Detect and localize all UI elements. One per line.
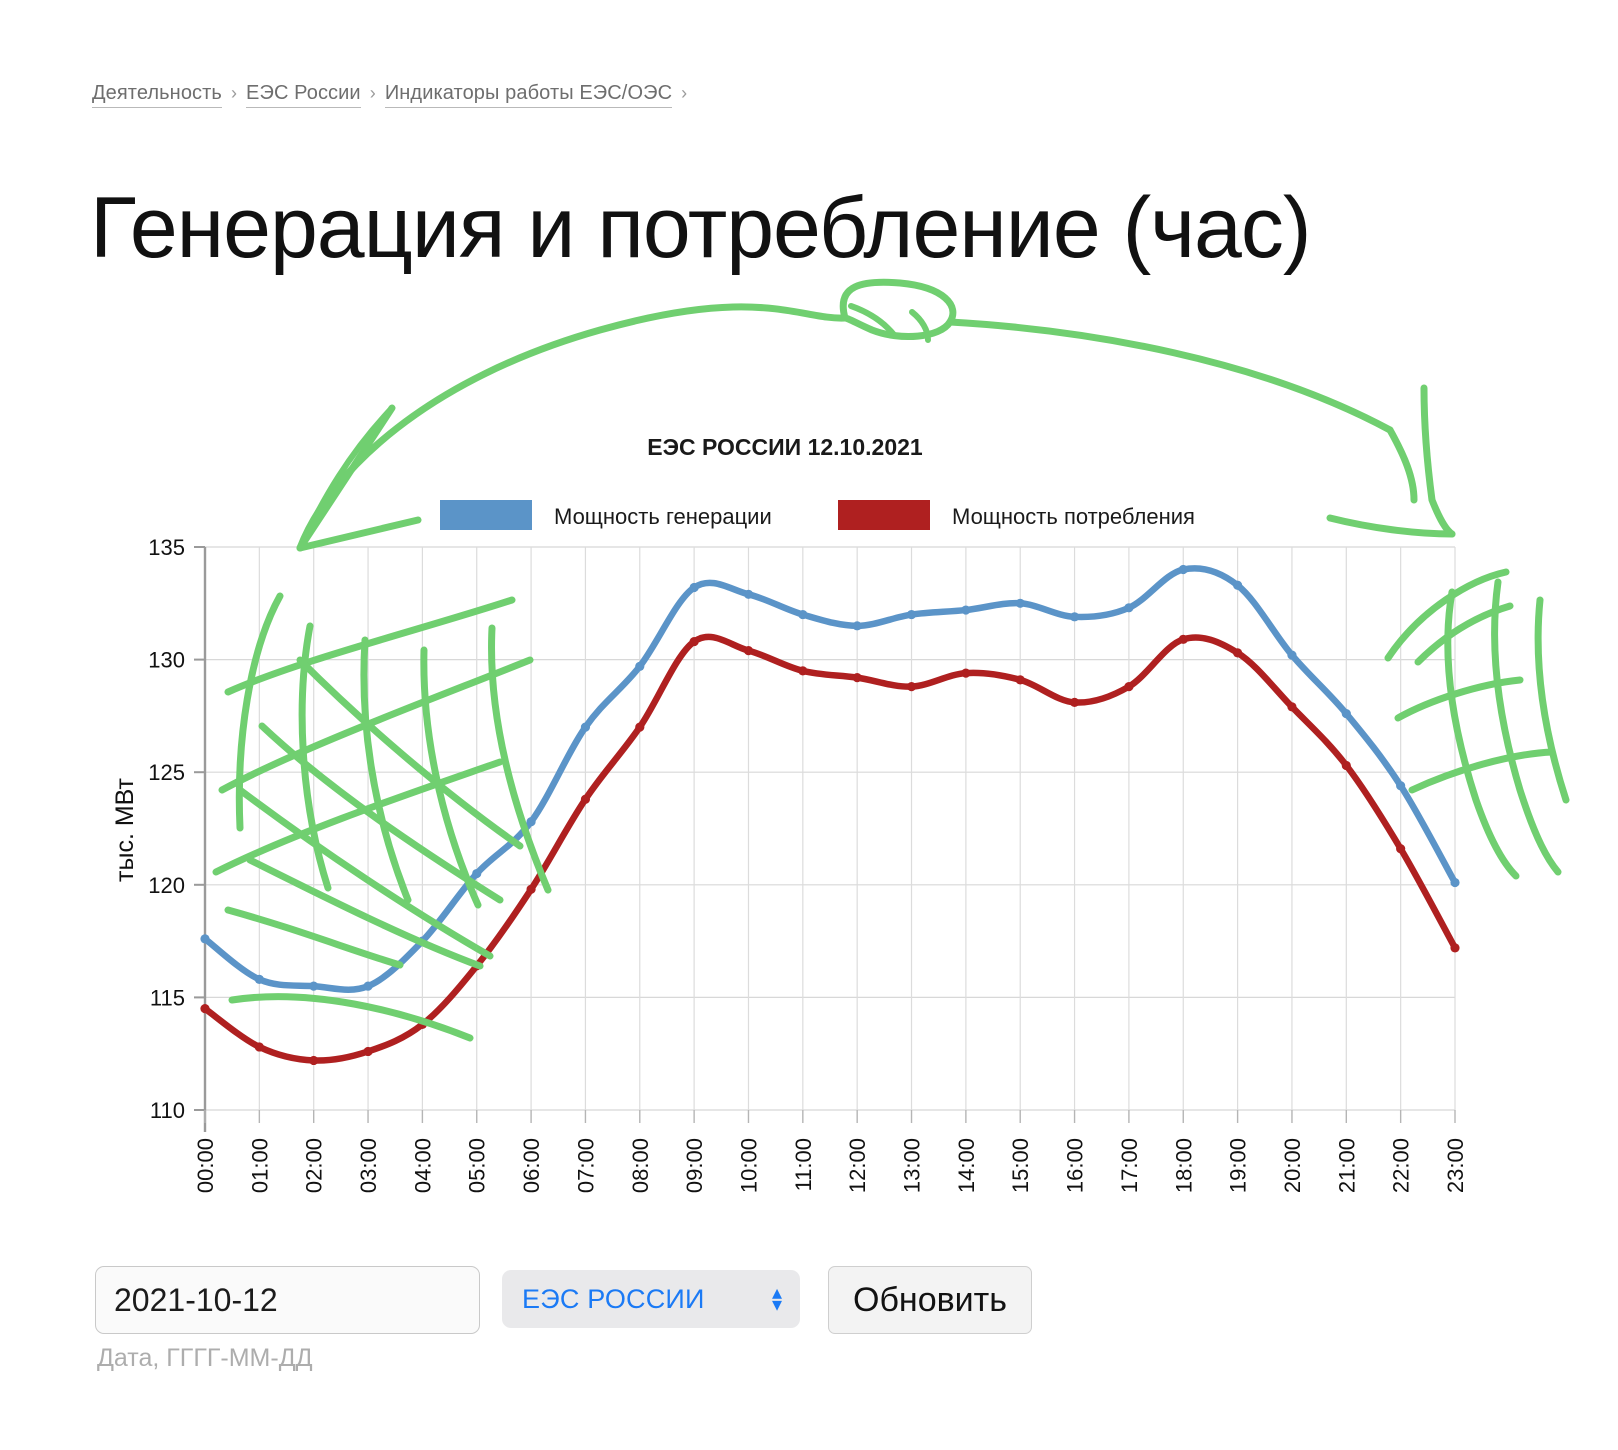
refresh-button[interactable]: Обновить (828, 1266, 1032, 1334)
chart-container: 11011512012513013500:0001:0002:0003:0004… (0, 0, 1618, 1240)
x-tick-label: 00:00 (193, 1138, 218, 1193)
series-generation (200, 565, 1459, 991)
legend-swatch (838, 500, 930, 530)
chevron-updown-icon: ▴▾ (772, 1287, 782, 1312)
chart-tick-labels: 11011512012513013500:0001:0002:0003:0004… (148, 535, 1468, 1193)
x-tick-label: 07:00 (573, 1138, 598, 1193)
x-tick-label: 22:00 (1389, 1138, 1414, 1193)
x-tick-label: 08:00 (628, 1138, 653, 1193)
x-tick-label: 11:00 (791, 1138, 816, 1191)
y-axis-title: тыс. МВт (111, 777, 139, 881)
y-tick-label: 135 (148, 535, 185, 560)
x-tick-label: 20:00 (1280, 1138, 1305, 1193)
x-tick-label: 21:00 (1334, 1138, 1359, 1193)
x-tick-label: 03:00 (356, 1138, 381, 1193)
x-tick-label: 10:00 (736, 1138, 761, 1193)
x-tick-label: 17:00 (1117, 1138, 1142, 1193)
x-tick-label: 02:00 (302, 1138, 327, 1193)
x-tick-label: 23:00 (1443, 1138, 1468, 1193)
x-tick-label: 18:00 (1171, 1138, 1196, 1193)
generation-consumption-line-chart: 11011512012513013500:0001:0002:0003:0004… (0, 0, 1618, 1240)
y-tick-label: 115 (150, 985, 185, 1010)
legend-swatch (440, 500, 532, 530)
region-select[interactable]: ЕЭС РОССИИ ▴▾ (502, 1270, 800, 1328)
x-tick-label: 15:00 (1008, 1138, 1033, 1193)
x-tick-label: 05:00 (465, 1138, 490, 1193)
x-tick-label: 13:00 (900, 1138, 925, 1193)
y-tick-label: 125 (148, 760, 185, 785)
y-tick-label: 130 (148, 648, 185, 673)
x-tick-label: 14:00 (954, 1138, 979, 1193)
y-tick-label: 110 (150, 1098, 185, 1123)
region-select-value: ЕЭС РОССИИ (522, 1284, 746, 1315)
chart-title: ЕЭС РОССИИ 12.10.2021 (647, 434, 923, 460)
x-tick-label: 01:00 (247, 1138, 272, 1193)
x-tick-label: 12:00 (845, 1138, 870, 1193)
x-tick-label: 09:00 (682, 1138, 707, 1193)
date-help-text: Дата, ГГГГ-ММ-ДД (97, 1344, 313, 1373)
x-tick-label: 06:00 (519, 1138, 544, 1193)
chart-legend: Мощность генерацииМощность потребления (440, 500, 1195, 530)
chart-gridlines (205, 547, 1455, 1110)
x-tick-label: 04:00 (410, 1138, 435, 1193)
page-root: Деятельность › ЕЭС России › Индикаторы р… (0, 0, 1618, 1450)
y-tick-label: 120 (148, 873, 185, 898)
date-input[interactable] (95, 1266, 480, 1334)
chart-series (200, 565, 1459, 1065)
legend-label: Мощность генерации (554, 504, 772, 529)
legend-label: Мощность потребления (952, 504, 1195, 529)
x-tick-label: 19:00 (1226, 1138, 1251, 1193)
x-tick-label: 16:00 (1063, 1138, 1088, 1193)
series-consumption (200, 635, 1459, 1065)
